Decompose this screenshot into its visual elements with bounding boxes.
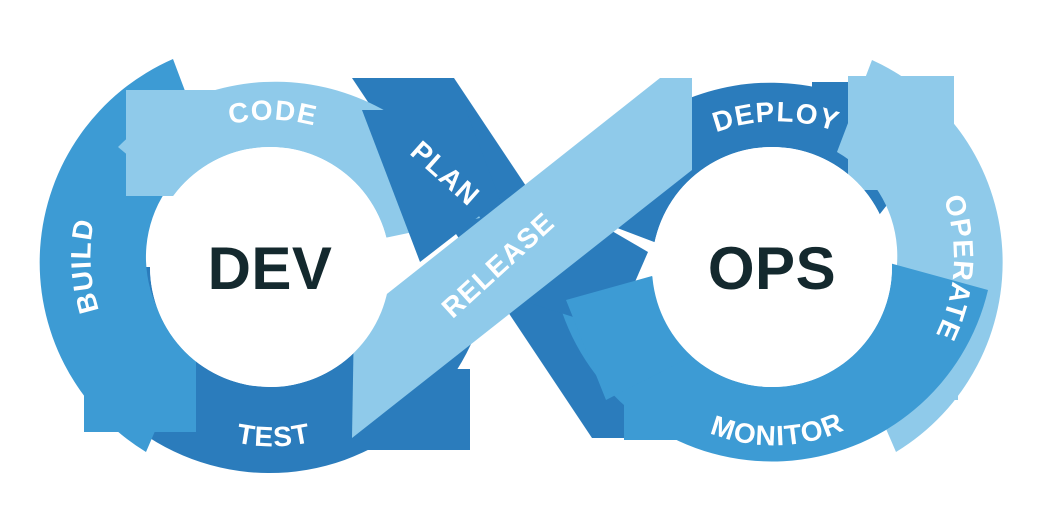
devops-loop-svg: CODE BUILD TEST DEPLOY OPERATE MONITOR P… [0, 0, 1044, 513]
devops-infinity-diagram: CODE BUILD TEST DEPLOY OPERATE MONITOR P… [0, 0, 1044, 513]
loop-label-dev: DEV [208, 235, 333, 302]
operate-overlap-tab [848, 76, 954, 190]
build-overlap-tab [84, 340, 196, 432]
loop-label-ops: OPS [708, 235, 836, 302]
